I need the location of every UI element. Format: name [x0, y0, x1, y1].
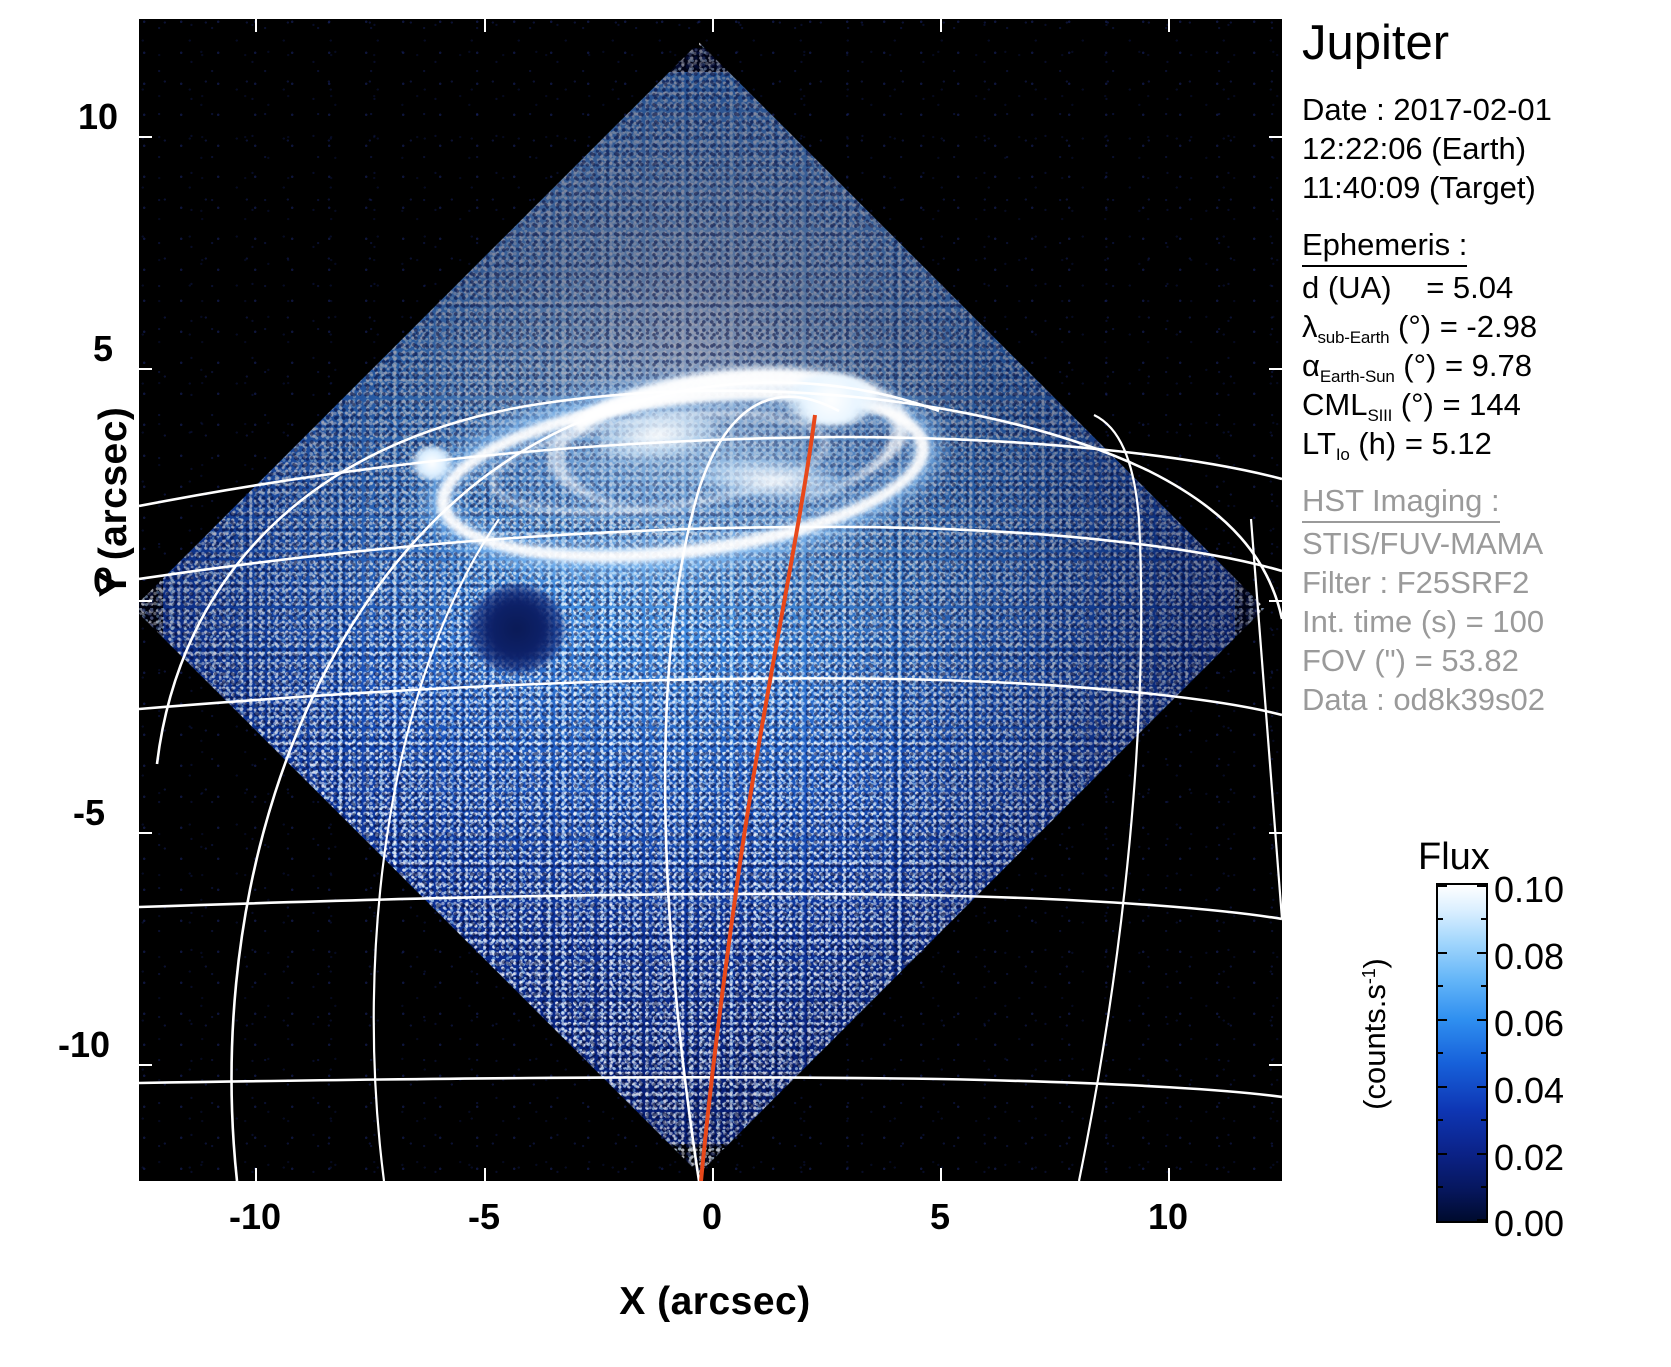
cb-tick-002 — [1477, 1153, 1486, 1155]
y-tick-label-5: 5 — [93, 328, 113, 370]
cb-tick-minor-l1 — [1438, 918, 1443, 920]
cb-tick-left-006 — [1438, 1019, 1447, 1021]
x-tick-bot-m10 — [255, 1168, 257, 1181]
y-tick-left-5 — [139, 368, 152, 370]
cb-tick-minor-r2 — [1481, 985, 1486, 987]
cb-tick-minor-l5 — [1438, 1186, 1443, 1188]
y-tick-label-m5: -5 — [73, 792, 105, 834]
ephemeris-unit-cml: (°) — [1401, 387, 1434, 422]
observation-date: Date : 2017-02-01 — [1302, 91, 1671, 130]
planetographic-grid — [139, 19, 1282, 1181]
ephemeris-value-distance: = 5.04 — [1426, 270, 1513, 305]
cb-label-008: 0.08 — [1494, 939, 1564, 975]
x-tick-top-5 — [940, 19, 942, 32]
colorbar-axis-label-paren: ) — [1357, 958, 1392, 968]
cb-tick-minor-l2 — [1438, 985, 1443, 987]
x-tick-bot-0 — [712, 1168, 714, 1181]
y-tick-left-0 — [139, 600, 152, 602]
ephemeris-row-sub-earth-lat: λsub-Earth (°) = -2.98 — [1302, 308, 1671, 347]
cb-tick-006 — [1477, 1019, 1486, 1021]
x-axis-label: X (arcsec) — [455, 1280, 975, 1324]
y-tick-right-m10 — [1269, 1064, 1282, 1066]
hst-integration-time: Int. time (s) = 100 — [1302, 603, 1671, 642]
cb-tick-008 — [1477, 952, 1486, 954]
y-tick-label-10: 10 — [78, 96, 118, 138]
ephemeris-unit-lt: (h) — [1358, 426, 1396, 461]
cb-tick-minor-r5 — [1481, 1186, 1486, 1188]
y-tick-left-m5 — [139, 832, 152, 834]
colorbar-legend: Flux (counts.s-1) 0.10 0.08 0.06 0.04 0.… — [1298, 836, 1671, 1256]
x-tick-top-10 — [1168, 19, 1170, 32]
y-tick-left-10 — [139, 136, 152, 138]
cb-label-004: 0.04 — [1494, 1073, 1564, 1109]
ephemeris-sub-alpha: Earth-Sun — [1320, 367, 1395, 386]
ephemeris-row-phase-angle: αEarth-Sun (°) = 9.78 — [1302, 347, 1671, 386]
x-tick-label-10: 10 — [1148, 1196, 1188, 1238]
y-tick-left-m10 — [139, 1064, 152, 1066]
ephemeris-row-local-time-io: LTIo (h) = 5.12 — [1302, 425, 1671, 464]
cb-tick-minor-l3 — [1438, 1052, 1443, 1054]
cml-meridian-line — [701, 415, 815, 1181]
x-tick-label-5: 5 — [930, 1196, 950, 1238]
ephemeris-unit-alpha: (°) — [1403, 348, 1436, 383]
ephemeris-value-lt: = 5.12 — [1405, 426, 1492, 461]
ephemeris-value-alpha: = 9.78 — [1445, 348, 1532, 383]
image-plot-area — [139, 19, 1282, 1181]
cb-tick-minor-r1 — [1481, 918, 1486, 920]
cb-label-006: 0.06 — [1494, 1006, 1564, 1042]
cb-tick-left-002 — [1438, 1153, 1447, 1155]
ephemeris-value-cml: = 144 — [1442, 387, 1520, 422]
colorbar-gradient — [1436, 883, 1488, 1223]
ephemeris-value-lambda: = -2.98 — [1440, 309, 1537, 344]
cb-label-002: 0.02 — [1494, 1140, 1564, 1176]
ephemeris-row-cml: CMLSIII (°) = 144 — [1302, 386, 1671, 425]
observation-time-target: 11:40:09 (Target) — [1302, 169, 1671, 208]
hst-dataset-id: Data : od8k39s02 — [1302, 681, 1671, 720]
y-axis-label: Y (arcsec) — [92, 382, 136, 622]
cb-tick-004 — [1477, 1086, 1486, 1088]
x-tick-top-m5 — [484, 19, 486, 32]
colorbar-axis-label-exponent: -1 — [1359, 968, 1379, 984]
ephemeris-sub-lambda: sub-Earth — [1318, 328, 1390, 347]
cb-tick-000 — [1477, 1219, 1486, 1221]
x-tick-top-m10 — [255, 19, 257, 32]
cb-tick-left-008 — [1438, 952, 1447, 954]
cb-tick-left-004 — [1438, 1086, 1447, 1088]
y-tick-label-m10: -10 — [58, 1024, 110, 1066]
ephemeris-heading: Ephemeris : — [1302, 226, 1467, 267]
target-title: Jupiter — [1302, 18, 1671, 69]
info-panel: Jupiter Date : 2017-02-01 12:22:06 (Eart… — [1298, 10, 1671, 719]
x-tick-bot-5 — [940, 1168, 942, 1181]
colorbar-axis-label: (counts.s-1) — [1357, 919, 1393, 1149]
cb-label-000: 0.00 — [1494, 1206, 1564, 1242]
hst-fov: FOV (") = 53.82 — [1302, 642, 1671, 681]
y-tick-right-m5 — [1269, 832, 1282, 834]
x-tick-label-m5: -5 — [468, 1196, 500, 1238]
cb-tick-minor-r4 — [1481, 1119, 1486, 1121]
cb-tick-010 — [1477, 885, 1486, 887]
ephemeris-label-lt: LT — [1302, 426, 1336, 461]
ephemeris-sub-cml: SIII — [1367, 406, 1392, 425]
observation-time-earth: 12:22:06 (Earth) — [1302, 130, 1671, 169]
hst-filter: Filter : F25SRF2 — [1302, 564, 1671, 603]
y-tick-right-0 — [1269, 600, 1282, 602]
hst-instrument: STIS/FUV-MAMA — [1302, 525, 1671, 564]
cb-tick-minor-r3 — [1481, 1052, 1486, 1054]
cb-tick-left-010 — [1438, 885, 1447, 887]
cb-tick-minor-l4 — [1438, 1119, 1443, 1121]
y-tick-right-10 — [1269, 136, 1282, 138]
ephemeris-label-lambda: λ — [1302, 309, 1318, 344]
x-tick-top-0 — [712, 19, 714, 32]
y-tick-right-5 — [1269, 368, 1282, 370]
ephemeris-label-cml: CML — [1302, 387, 1367, 422]
colorbar-axis-label-text: (counts.s — [1357, 984, 1392, 1110]
cb-label-010: 0.10 — [1494, 872, 1564, 908]
ephemeris-sub-lt: Io — [1336, 445, 1350, 464]
x-tick-label-m10: -10 — [229, 1196, 281, 1238]
x-tick-label-0: 0 — [702, 1196, 722, 1238]
ephemeris-unit-lambda: (°) — [1398, 309, 1431, 344]
ephemeris-row-distance: d (UA) = 5.04 — [1302, 269, 1671, 308]
ephemeris-label-alpha: α — [1302, 348, 1320, 383]
hst-imaging-heading: HST Imaging : — [1302, 482, 1500, 523]
colorbar-title: Flux — [1418, 836, 1490, 879]
ephemeris-label-distance: d (UA) — [1302, 270, 1392, 305]
x-tick-bot-10 — [1168, 1168, 1170, 1181]
x-tick-bot-m5 — [484, 1168, 486, 1181]
